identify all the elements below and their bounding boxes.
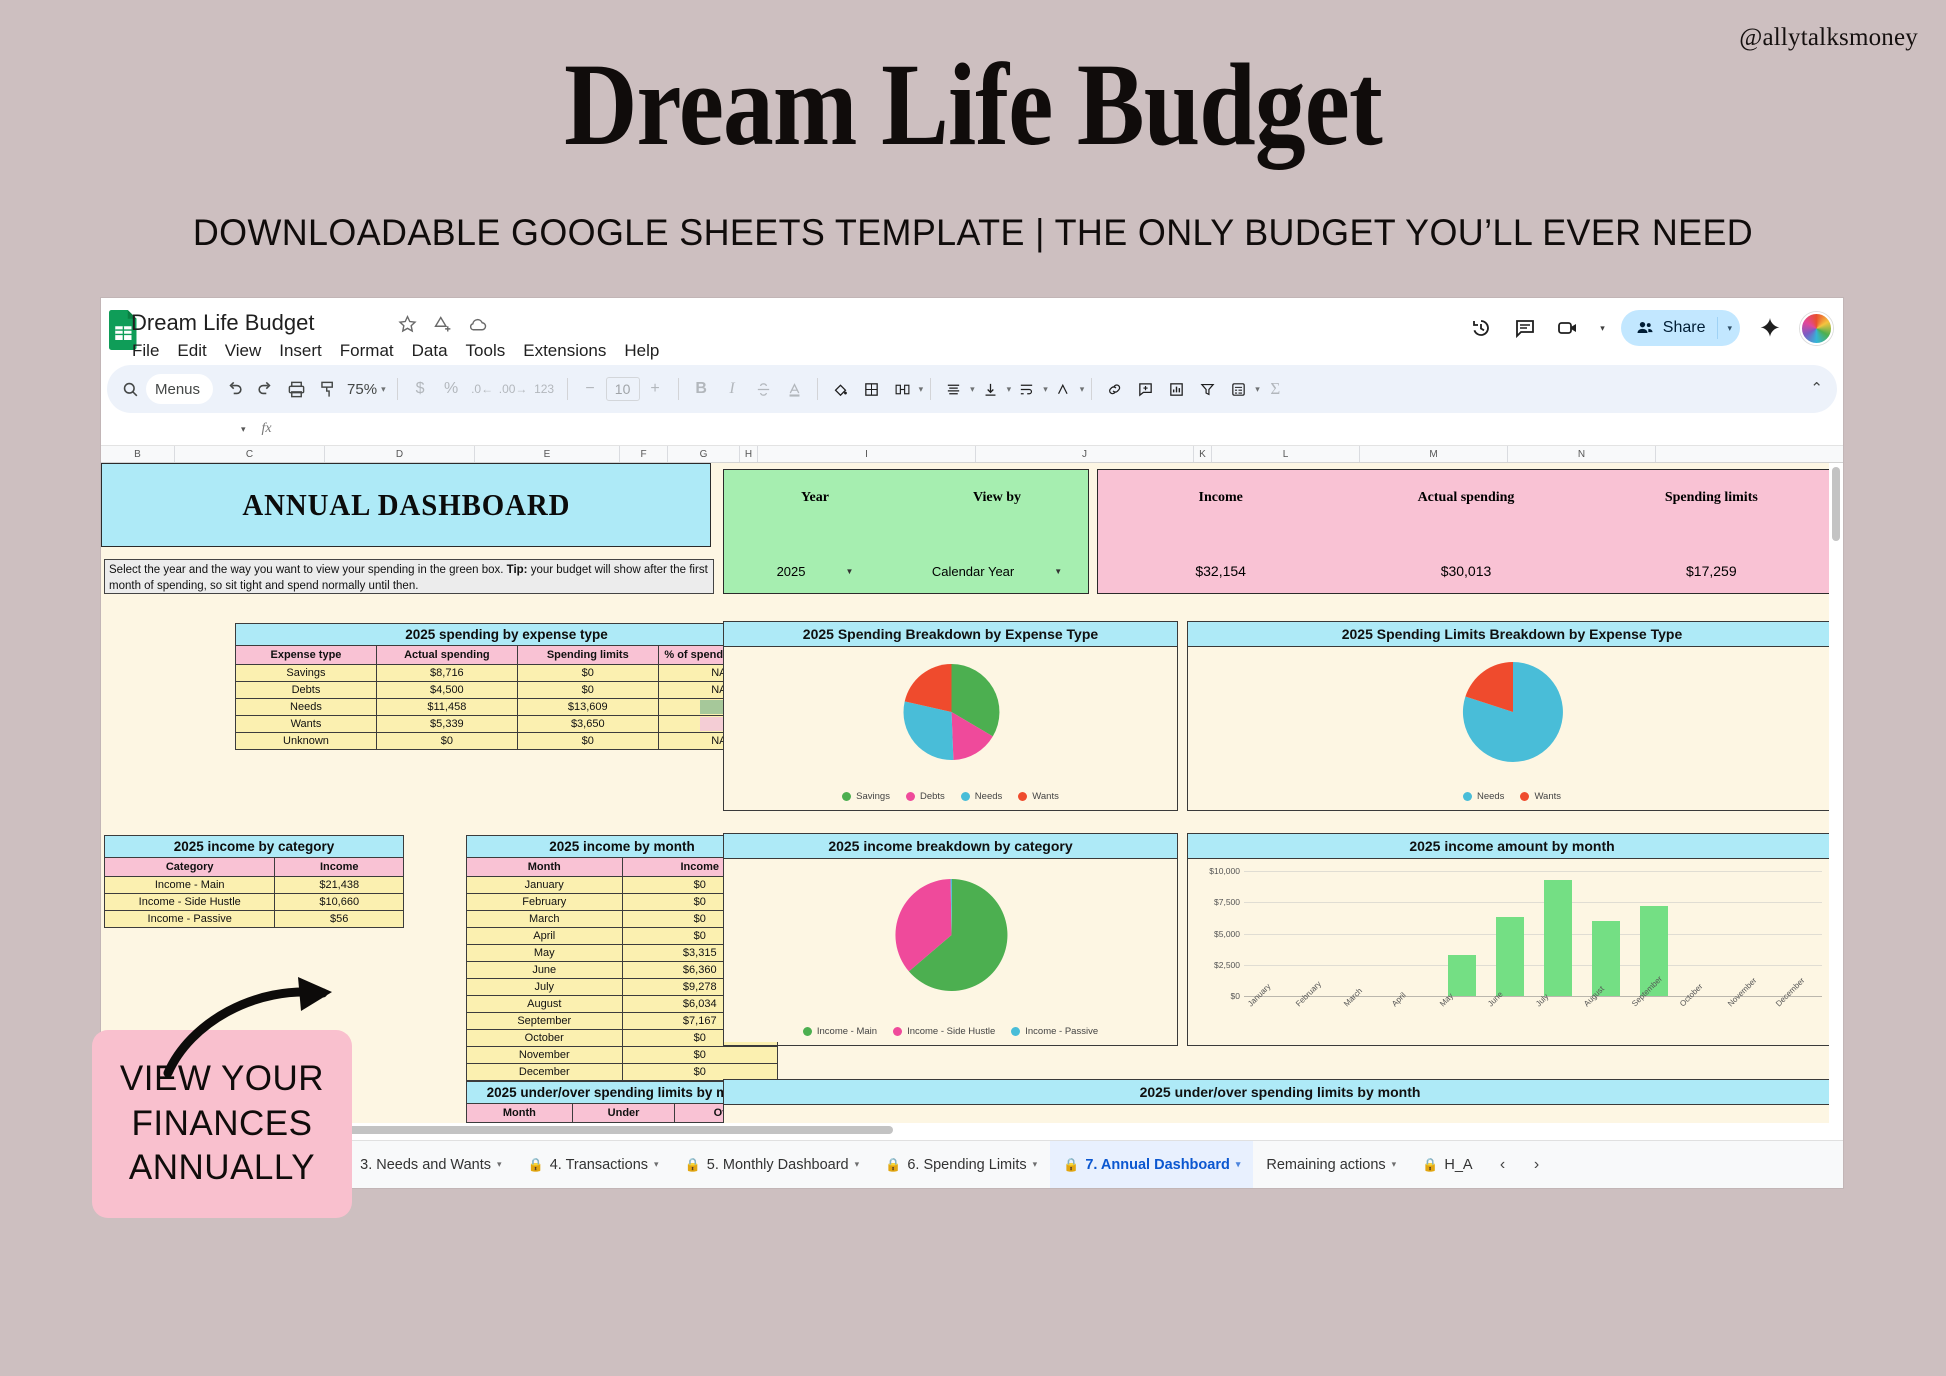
sheet-tab-annual-dashboard[interactable]: 🔒7. Annual Dashboard▾	[1050, 1141, 1253, 1189]
horizontal-align-icon[interactable]	[938, 374, 969, 405]
cell-month: November	[467, 1047, 623, 1064]
sheet-tab-label: H_A	[1444, 1157, 1472, 1173]
year-selector-box: Year View by 2025 ▼ Calendar Year ▼	[723, 469, 1089, 594]
cell-limit: $0	[517, 665, 658, 682]
incmon-th-month: Month	[467, 858, 623, 877]
divider	[817, 378, 818, 400]
legend-label: Income - Side Hustle	[907, 1026, 995, 1037]
comment-icon[interactable]	[1511, 314, 1539, 342]
decrease-decimal-icon[interactable]: .0←	[467, 374, 498, 405]
chart-title: 2025 income breakdown by category	[724, 834, 1177, 859]
sheet-tab-transactions[interactable]: 🔒4. Transactions▾	[515, 1141, 672, 1189]
sheet-tab-label: 7. Annual Dashboard	[1085, 1157, 1229, 1173]
column-header-D[interactable]: D	[325, 446, 475, 462]
table-row[interactable]: Wants $5,339 $3,650 146%	[236, 716, 778, 733]
next-sheet-icon[interactable]: ›	[1520, 1156, 1554, 1174]
paint-format-icon[interactable]	[312, 374, 343, 405]
legend-swatch	[1011, 1027, 1020, 1036]
valign-dropdown-caret[interactable]: ▾	[1007, 384, 1012, 395]
lock-icon: 🔒	[1063, 1157, 1079, 1173]
cell-actual: $5,339	[376, 716, 517, 733]
column-headers: B C D E F G H I J K L M N	[101, 446, 1843, 463]
cell-category: Income - Main	[105, 877, 275, 894]
sheet-tab-label: 4. Transactions	[550, 1157, 648, 1173]
chevron-down-icon[interactable]: ▾	[497, 1159, 502, 1170]
annual-dashboard-title: ANNUAL DASHBOARD	[242, 487, 570, 523]
cell-month: April	[467, 928, 623, 945]
vertical-scrollbar-thumb[interactable]	[1832, 467, 1840, 541]
people-icon	[1635, 318, 1655, 338]
column-header-J[interactable]: J	[976, 446, 1194, 462]
y-axis-tick-label: $7,500	[1188, 897, 1240, 907]
version-history-icon[interactable]	[1467, 314, 1495, 342]
legend-swatch	[842, 792, 851, 801]
x-axis-labels: JanuaryFebruaryMarchAprilMayJuneJulyAugu…	[1246, 998, 1822, 1040]
insert-link-icon[interactable]	[1099, 374, 1130, 405]
pie-chart-svg	[724, 647, 1179, 787]
chevron-down-icon[interactable]: ▾	[1392, 1159, 1397, 1170]
income-category-caption: 2025 income by category	[104, 835, 404, 857]
table-row[interactable]: Income - Passive$56	[105, 911, 404, 928]
chart-title: 2025 income amount by month	[1188, 834, 1836, 859]
sheet-tab-spending-limits[interactable]: 🔒6. Spending Limits▾	[872, 1141, 1050, 1189]
star-icon[interactable]	[397, 314, 418, 335]
legend-swatch	[1520, 792, 1529, 801]
legend-label: Income - Passive	[1025, 1026, 1098, 1037]
column-header-C[interactable]: C	[175, 446, 325, 462]
divider	[1091, 378, 1092, 400]
income-category-table: Category Income Income - Main$21,438 Inc…	[104, 857, 404, 928]
menu-bar[interactable]: File Edit View Insert Format Data Tools …	[132, 341, 659, 361]
vertical-scrollbar[interactable]	[1829, 463, 1843, 1136]
horizontal-scrollbar[interactable]	[101, 1123, 1829, 1136]
sheet-tab-remaining-actions[interactable]: Remaining actions▾	[1253, 1141, 1409, 1189]
summary-value-limits: $17,259	[1589, 563, 1834, 579]
menu-item-extensions[interactable]: Extensions	[523, 341, 606, 361]
share-button-label: Share	[1663, 319, 1706, 337]
divider	[567, 378, 568, 400]
spending-th-limits: Spending limits	[517, 646, 658, 665]
meet-dropdown-caret[interactable]: ▾	[1600, 323, 1605, 334]
tip-bold-label: Tip:	[507, 564, 528, 576]
meet-icon[interactable]	[1555, 314, 1583, 342]
menu-item-format[interactable]: Format	[340, 341, 394, 361]
cell-income: $10,660	[275, 894, 404, 911]
bold-icon[interactable]: B	[686, 374, 717, 405]
fill-color-icon[interactable]	[825, 374, 856, 405]
currency-format-icon[interactable]: $	[405, 374, 436, 405]
inccat-th-category: Category	[105, 858, 275, 877]
cell-income: $0	[622, 1064, 778, 1081]
insert-comment-icon[interactable]	[1130, 374, 1161, 405]
column-header-F[interactable]: F	[620, 446, 668, 462]
increase-font-size-button[interactable]: +	[640, 374, 671, 405]
chevron-down-icon: ▼	[1054, 567, 1062, 576]
menus-button-label: Menus	[155, 381, 200, 398]
share-divider	[1717, 317, 1718, 339]
insert-chart-icon[interactable]	[1161, 374, 1192, 405]
column-header-K[interactable]: K	[1194, 446, 1212, 462]
legend-swatch	[1018, 792, 1027, 801]
sheet-tab-needs-and-wants[interactable]: 🔒3. Needs and Wants▾	[325, 1141, 515, 1189]
lock-icon: 🔒	[685, 1157, 701, 1173]
column-header-H[interactable]: H	[740, 446, 758, 462]
decrease-font-size-button[interactable]: −	[575, 374, 606, 405]
undo-icon[interactable]	[219, 374, 250, 405]
inccat-th-income: Income	[275, 858, 404, 877]
uo-th-under: Under	[572, 1104, 675, 1123]
sheet-tab-monthly-dashboard[interactable]: 🔒5. Monthly Dashboard▾	[672, 1141, 873, 1189]
legend-label: Savings	[856, 791, 890, 802]
wrap-dropdown-caret[interactable]: ▾	[1043, 384, 1048, 395]
year-dropdown[interactable]: 2025 ▼	[724, 564, 906, 579]
spending-table-panel: 2025 spending by expense type Expense ty…	[235, 623, 778, 750]
avatar[interactable]	[1800, 312, 1833, 345]
divider	[397, 378, 398, 400]
chart-legend: Needs Wants	[1188, 791, 1836, 802]
gemini-icon[interactable]	[1756, 314, 1784, 342]
legend-item[interactable]: Income - Side Hustle	[893, 1026, 995, 1037]
titlebar-actions: ▾ Share ▾	[1467, 310, 1833, 346]
legend-label: Wants	[1032, 791, 1059, 802]
summary-value-actual: $30,013	[1343, 563, 1588, 579]
table-row[interactable]: November$0	[467, 1047, 778, 1064]
previous-sheet-icon[interactable]: ‹	[1486, 1156, 1520, 1174]
annotation-arrow-icon	[160, 975, 350, 1085]
pie-chart-svg	[724, 859, 1179, 1022]
sheet-tab-label: 6. Spending Limits	[907, 1157, 1026, 1173]
legend-item[interactable]: Needs	[1463, 791, 1504, 802]
spending-th-type: Expense type	[236, 646, 377, 665]
y-axis-tick-label: $2,500	[1188, 960, 1240, 970]
halign-dropdown-caret[interactable]: ▾	[970, 384, 975, 395]
search-icon[interactable]	[121, 380, 140, 399]
menu-item-insert[interactable]: Insert	[279, 341, 322, 361]
filter-icon[interactable]	[1192, 374, 1223, 405]
chart-canvas: Needs Wants	[1188, 647, 1836, 807]
cell-month: February	[467, 894, 623, 911]
google-sheets-window: Dream Life Budget File Edit View Insert …	[101, 298, 1843, 1188]
sheet-tab-h-a[interactable]: 🔒H_A	[1409, 1141, 1485, 1189]
y-axis-tick-label: $10,000	[1188, 866, 1240, 876]
italic-icon[interactable]: I	[717, 374, 748, 405]
column-header-G[interactable]: G	[668, 446, 740, 462]
cell-month: September	[467, 1013, 623, 1030]
page-subtitle: DOWNLOADABLE GOOGLE SHEETS TEMPLATE | TH…	[29, 212, 1917, 254]
viewby-value: Calendar Year	[932, 564, 1014, 579]
chevron-down-icon: ▼	[846, 567, 854, 576]
cell-type: Savings	[236, 665, 377, 682]
cell-month: June	[467, 962, 623, 979]
legend-item[interactable]: Needs	[961, 791, 1002, 802]
cell-month: October	[467, 1030, 623, 1047]
table-row[interactable]: Debts $4,500 $0 NA	[236, 682, 778, 699]
menu-item-help[interactable]: Help	[624, 341, 659, 361]
zoom-value: 75%	[347, 381, 377, 398]
legend-item[interactable]: Income - Main	[803, 1026, 877, 1037]
column-header-M[interactable]: M	[1360, 446, 1508, 462]
formula-bar[interactable]: ▾ fx	[101, 413, 1843, 446]
move-to-drive-icon[interactable]	[432, 314, 453, 335]
cell-actual: $8,716	[376, 665, 517, 682]
cell-month: December	[467, 1064, 623, 1081]
y-axis-tick-label: $0	[1188, 991, 1240, 1001]
lock-icon: 🔒	[885, 1157, 901, 1173]
chart-spending-limits-breakdown: 2025 Spending Limits Breakdown by Expens…	[1187, 621, 1837, 811]
column-header-L[interactable]: L	[1212, 446, 1360, 462]
functions-menu-icon[interactable]	[1223, 374, 1254, 405]
rotation-dropdown-caret[interactable]: ▾	[1080, 384, 1085, 395]
table-row[interactable]: Income - Main$21,438	[105, 877, 404, 894]
summary-label-income: Income	[1098, 490, 1343, 506]
increase-decimal-icon[interactable]: .00→	[498, 374, 529, 405]
title-icon-group	[397, 314, 488, 335]
cell-limit: $13,609	[517, 699, 658, 716]
menu-item-data[interactable]: Data	[412, 341, 448, 361]
cell-type: Debts	[236, 682, 377, 699]
legend-label: Debts	[920, 791, 945, 802]
legend-label: Wants	[1534, 791, 1561, 802]
strikethrough-icon[interactable]	[748, 374, 779, 405]
column-header-B[interactable]: B	[101, 446, 175, 462]
chart-income-by-month: 2025 income amount by month $0$2,500$5,0…	[1187, 833, 1837, 1046]
year-label: Year	[724, 490, 906, 506]
annotation-line-2: FINANCES	[132, 1106, 313, 1143]
cell-actual: $11,458	[376, 699, 517, 716]
chevron-down-icon[interactable]: ▾	[855, 1159, 860, 1170]
name-box-caret-icon[interactable]: ▾	[241, 424, 246, 435]
spending-table: Expense type Actual spending Spending li…	[235, 645, 778, 750]
fx-icon: fx	[262, 421, 272, 437]
menu-item-view[interactable]: View	[225, 341, 262, 361]
annotation-line-3: ANNUALLY	[129, 1150, 315, 1187]
menus-button[interactable]: Menus	[146, 374, 213, 404]
divider	[678, 378, 679, 400]
table-row[interactable]: Needs $11,458 $13,609 84%	[236, 699, 778, 716]
chevron-down-icon[interactable]: ▾	[1033, 1159, 1038, 1170]
column-header-E[interactable]: E	[475, 446, 620, 462]
column-header-I[interactable]: I	[758, 446, 976, 462]
document-title[interactable]: Dream Life Budget	[131, 310, 314, 336]
chart-canvas: $0$2,500$5,000$7,500$10,000JanuaryFebrua…	[1188, 859, 1836, 1042]
cell-type: Wants	[236, 716, 377, 733]
legend-swatch	[906, 792, 915, 801]
chart-legend: Savings Debts Needs Wants	[724, 791, 1177, 802]
text-wrapping-icon[interactable]	[1011, 374, 1042, 405]
chevron-down-icon: ▾	[381, 384, 386, 395]
summary-label-actual: Actual spending	[1343, 490, 1588, 506]
share-dropdown-caret[interactable]: ▾	[1727, 323, 1732, 334]
print-icon[interactable]	[281, 374, 312, 405]
lock-icon: 🔒	[528, 1157, 544, 1173]
chart-title: 2025 Spending Breakdown by Expense Type	[724, 622, 1177, 647]
column-header-N[interactable]: N	[1508, 446, 1656, 462]
cell-limit: $0	[517, 682, 658, 699]
share-button[interactable]: Share ▾	[1621, 310, 1740, 346]
font-size-input[interactable]: 10	[606, 377, 640, 401]
chart-canvas: Income - Main Income - Side Hustle Incom…	[724, 859, 1177, 1042]
merge-cells-icon[interactable]	[887, 374, 918, 405]
menu-item-tools[interactable]: Tools	[466, 341, 506, 361]
sheet-tab-label: 3. Needs and Wants	[360, 1157, 491, 1173]
legend-swatch	[1463, 792, 1472, 801]
cell-income: $21,438	[275, 877, 404, 894]
spreadsheet-grid[interactable]: ANNUAL DASHBOARD Select the year and the…	[101, 463, 1843, 1136]
table-row[interactable]: Savings $8,716 $0 NA	[236, 665, 778, 682]
sheet-tab-label: 5. Monthly Dashboard	[707, 1157, 849, 1173]
chart-title: 2025 under/over spending limits by month	[724, 1080, 1836, 1105]
borders-icon[interactable]	[856, 374, 887, 405]
legend-item[interactable]: Debts	[906, 791, 945, 802]
menu-item-file[interactable]: File	[132, 341, 159, 361]
uo-th-month: Month	[467, 1104, 573, 1123]
spending-th-actual: Actual spending	[376, 646, 517, 665]
legend-label: Needs	[975, 791, 1002, 802]
chart-title: 2025 Spending Limits Breakdown by Expens…	[1188, 622, 1836, 647]
text-rotation-icon[interactable]	[1048, 374, 1079, 405]
summary-label-limits: Spending limits	[1589, 490, 1834, 506]
vertical-align-icon[interactable]	[975, 374, 1006, 405]
legend-swatch	[803, 1027, 812, 1036]
merge-dropdown-caret[interactable]: ▾	[919, 384, 924, 395]
legend-item[interactable]: Income - Passive	[1011, 1026, 1098, 1037]
page-title: Dream Life Budget	[136, 46, 1810, 164]
spending-table-caption: 2025 spending by expense type	[235, 623, 778, 645]
summary-value-income: $32,154	[1098, 563, 1343, 579]
cell-limit: $3,650	[517, 716, 658, 733]
collapse-toolbar-icon[interactable]: ⌃	[1810, 379, 1823, 397]
redo-icon[interactable]	[250, 374, 281, 405]
chart-canvas: Savings Debts Needs Wants	[724, 647, 1177, 807]
menu-item-edit[interactable]: Edit	[177, 341, 206, 361]
cell-limit: $0	[517, 733, 658, 750]
cell-month: May	[467, 945, 623, 962]
cell-actual: $0	[376, 733, 517, 750]
table-row[interactable]: Income - Side Hustle$10,660	[105, 894, 404, 911]
cloud-saved-icon[interactable]	[467, 314, 488, 335]
cell-actual: $4,500	[376, 682, 517, 699]
chart-legend: Income - Main Income - Side Hustle Incom…	[724, 1026, 1177, 1037]
year-value: 2025	[777, 564, 806, 579]
cell-type: Unknown	[236, 733, 377, 750]
chart-spending-breakdown: 2025 Spending Breakdown by Expense Type …	[723, 621, 1178, 811]
sheet-tab-bar: ebts▾ 🔒3. Needs and Wants▾ 🔒4. Transacti…	[101, 1140, 1843, 1188]
chart-income-breakdown: 2025 income breakdown by category Income…	[723, 833, 1178, 1046]
viewby-dropdown[interactable]: Calendar Year ▼	[906, 564, 1088, 579]
legend-label: Income - Main	[817, 1026, 877, 1037]
bar-chart: $0$2,500$5,000$7,500$10,000JanuaryFebrua…	[1188, 859, 1836, 1042]
cell-month: January	[467, 877, 623, 894]
legend-item[interactable]: Wants	[1018, 791, 1059, 802]
y-axis-tick-label: $5,000	[1188, 929, 1240, 939]
number-format-icon[interactable]: 123	[529, 374, 560, 405]
zoom-selector[interactable]: 75% ▾	[343, 381, 390, 398]
text-color-icon[interactable]	[779, 374, 810, 405]
divider	[930, 378, 931, 400]
lock-icon: 🔒	[1422, 1157, 1438, 1173]
sheets-titlebar: Dream Life Budget File Edit View Insert …	[101, 298, 1843, 365]
percent-format-icon[interactable]: %	[436, 374, 467, 405]
summary-box: Income Actual spending Spending limits $…	[1097, 469, 1835, 594]
cell-income: $0	[622, 1047, 778, 1064]
cell-category: Income - Side Hustle	[105, 894, 275, 911]
table-row[interactable]: Unknown $0 $0 NA	[236, 733, 778, 750]
cell-month: March	[467, 911, 623, 928]
cell-type: Needs	[236, 699, 377, 716]
viewby-label: View by	[906, 490, 1088, 506]
cell-category: Income - Passive	[105, 911, 275, 928]
chevron-down-icon[interactable]: ▾	[1236, 1159, 1241, 1170]
sum-icon[interactable]: Σ	[1260, 374, 1291, 405]
legend-swatch	[961, 792, 970, 801]
cell-income: $56	[275, 911, 404, 928]
pie-chart-svg	[1188, 647, 1838, 787]
annual-dashboard-banner: ANNUAL DASHBOARD	[101, 463, 711, 547]
sheets-toolbar: Menus 75% ▾ $ % .0← .00→ 123 − 10 + B I	[107, 365, 1837, 413]
tip-text-part1: Select the year and the way you want to …	[109, 564, 507, 576]
table-row[interactable]: December$0	[467, 1064, 778, 1081]
legend-item[interactable]: Wants	[1520, 791, 1561, 802]
legend-item[interactable]: Savings	[842, 791, 890, 802]
cell-month: July	[467, 979, 623, 996]
sheet-tab-label: Remaining actions	[1266, 1157, 1385, 1173]
legend-swatch	[893, 1027, 902, 1036]
legend-label: Needs	[1477, 791, 1504, 802]
tip-text-box: Select the year and the way you want to …	[104, 559, 714, 594]
income-category-panel: 2025 income by category Category Income …	[104, 835, 404, 928]
cell-month: August	[467, 996, 623, 1013]
chevron-down-icon[interactable]: ▾	[654, 1159, 659, 1170]
